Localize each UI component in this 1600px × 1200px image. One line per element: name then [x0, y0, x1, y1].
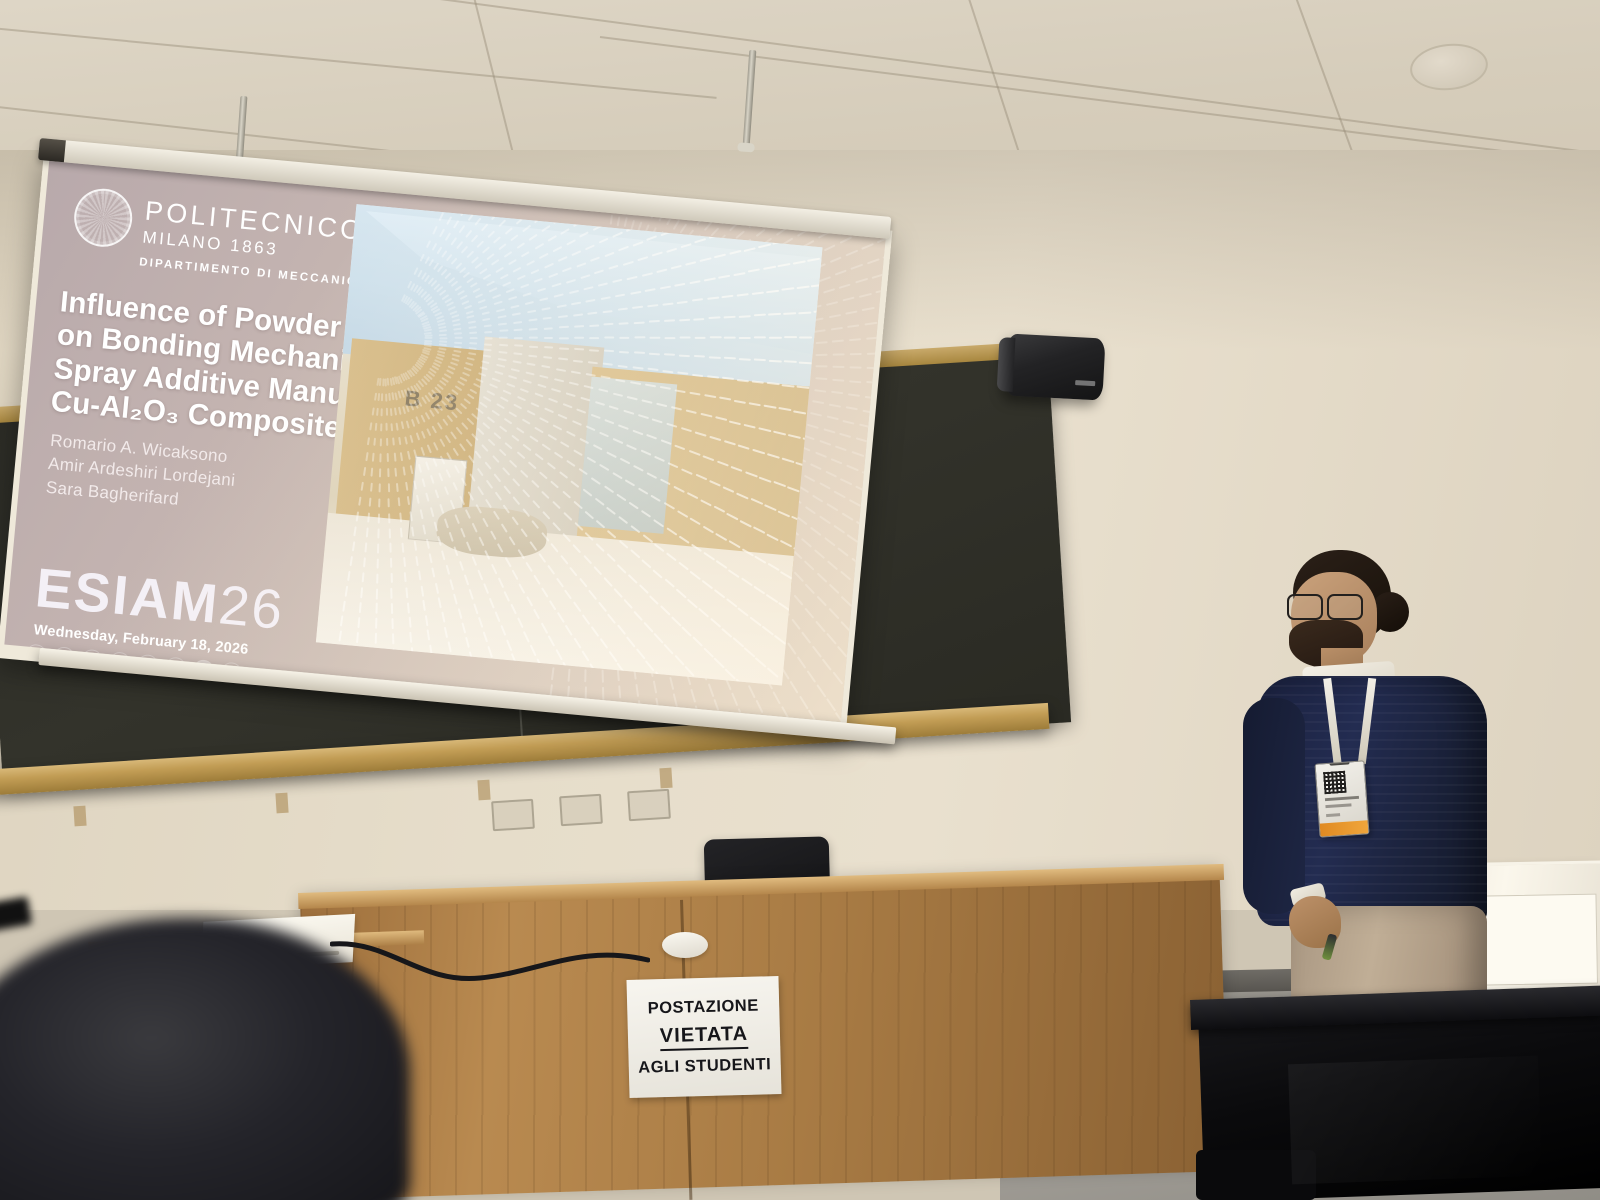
- title-slide: POLITECNICO MILANO 1863 DIPARTIMENTO DI …: [4, 160, 885, 723]
- tray-bracket: [73, 806, 86, 827]
- tray-bracket: [275, 793, 288, 814]
- conference-badge: [1314, 760, 1369, 837]
- ceiling-vent-icon: [1408, 40, 1490, 94]
- photo-scene: POLITECNICO MILANO 1863 DIPARTIMENTO DI …: [0, 0, 1600, 1200]
- tray-bracket: [477, 780, 490, 801]
- desk-puck: [662, 932, 708, 958]
- presenter-arm: [1243, 698, 1305, 914]
- desk-sign: POSTAZIONE VIETATA AGLI STUDENTI: [626, 976, 781, 1098]
- power-cable: [330, 938, 650, 994]
- sign-line-2: VIETATA: [660, 1023, 749, 1051]
- presenter-glasses: [1287, 594, 1359, 616]
- badge-accent-band: [1320, 820, 1369, 836]
- wall-socket[interactable]: [627, 789, 671, 822]
- wall-socket[interactable]: [491, 799, 535, 832]
- badge-qr-code-icon: [1323, 771, 1346, 794]
- photo-ray-overlay: [316, 204, 823, 685]
- sign-line-3: AGLI STUDENTI: [638, 1055, 771, 1077]
- foreground-phone: [0, 896, 32, 931]
- tray-bracket: [659, 768, 672, 789]
- slide-authors: Romario A. Wicaksono Amir Ardeshiri Lord…: [45, 429, 238, 516]
- piano-reflection: [1288, 1056, 1542, 1185]
- polimi-logo: POLITECNICO MILANO 1863: [72, 186, 367, 271]
- projection-screen: POLITECNICO MILANO 1863 DIPARTIMENTO DI …: [0, 152, 892, 737]
- polimi-seal-icon: [72, 186, 135, 249]
- slide-photo-b23: B 23: [316, 204, 823, 685]
- sign-line-1: POSTAZIONE: [647, 997, 759, 1019]
- wall-speaker-icon: [1004, 333, 1105, 400]
- wall-socket[interactable]: [559, 794, 603, 827]
